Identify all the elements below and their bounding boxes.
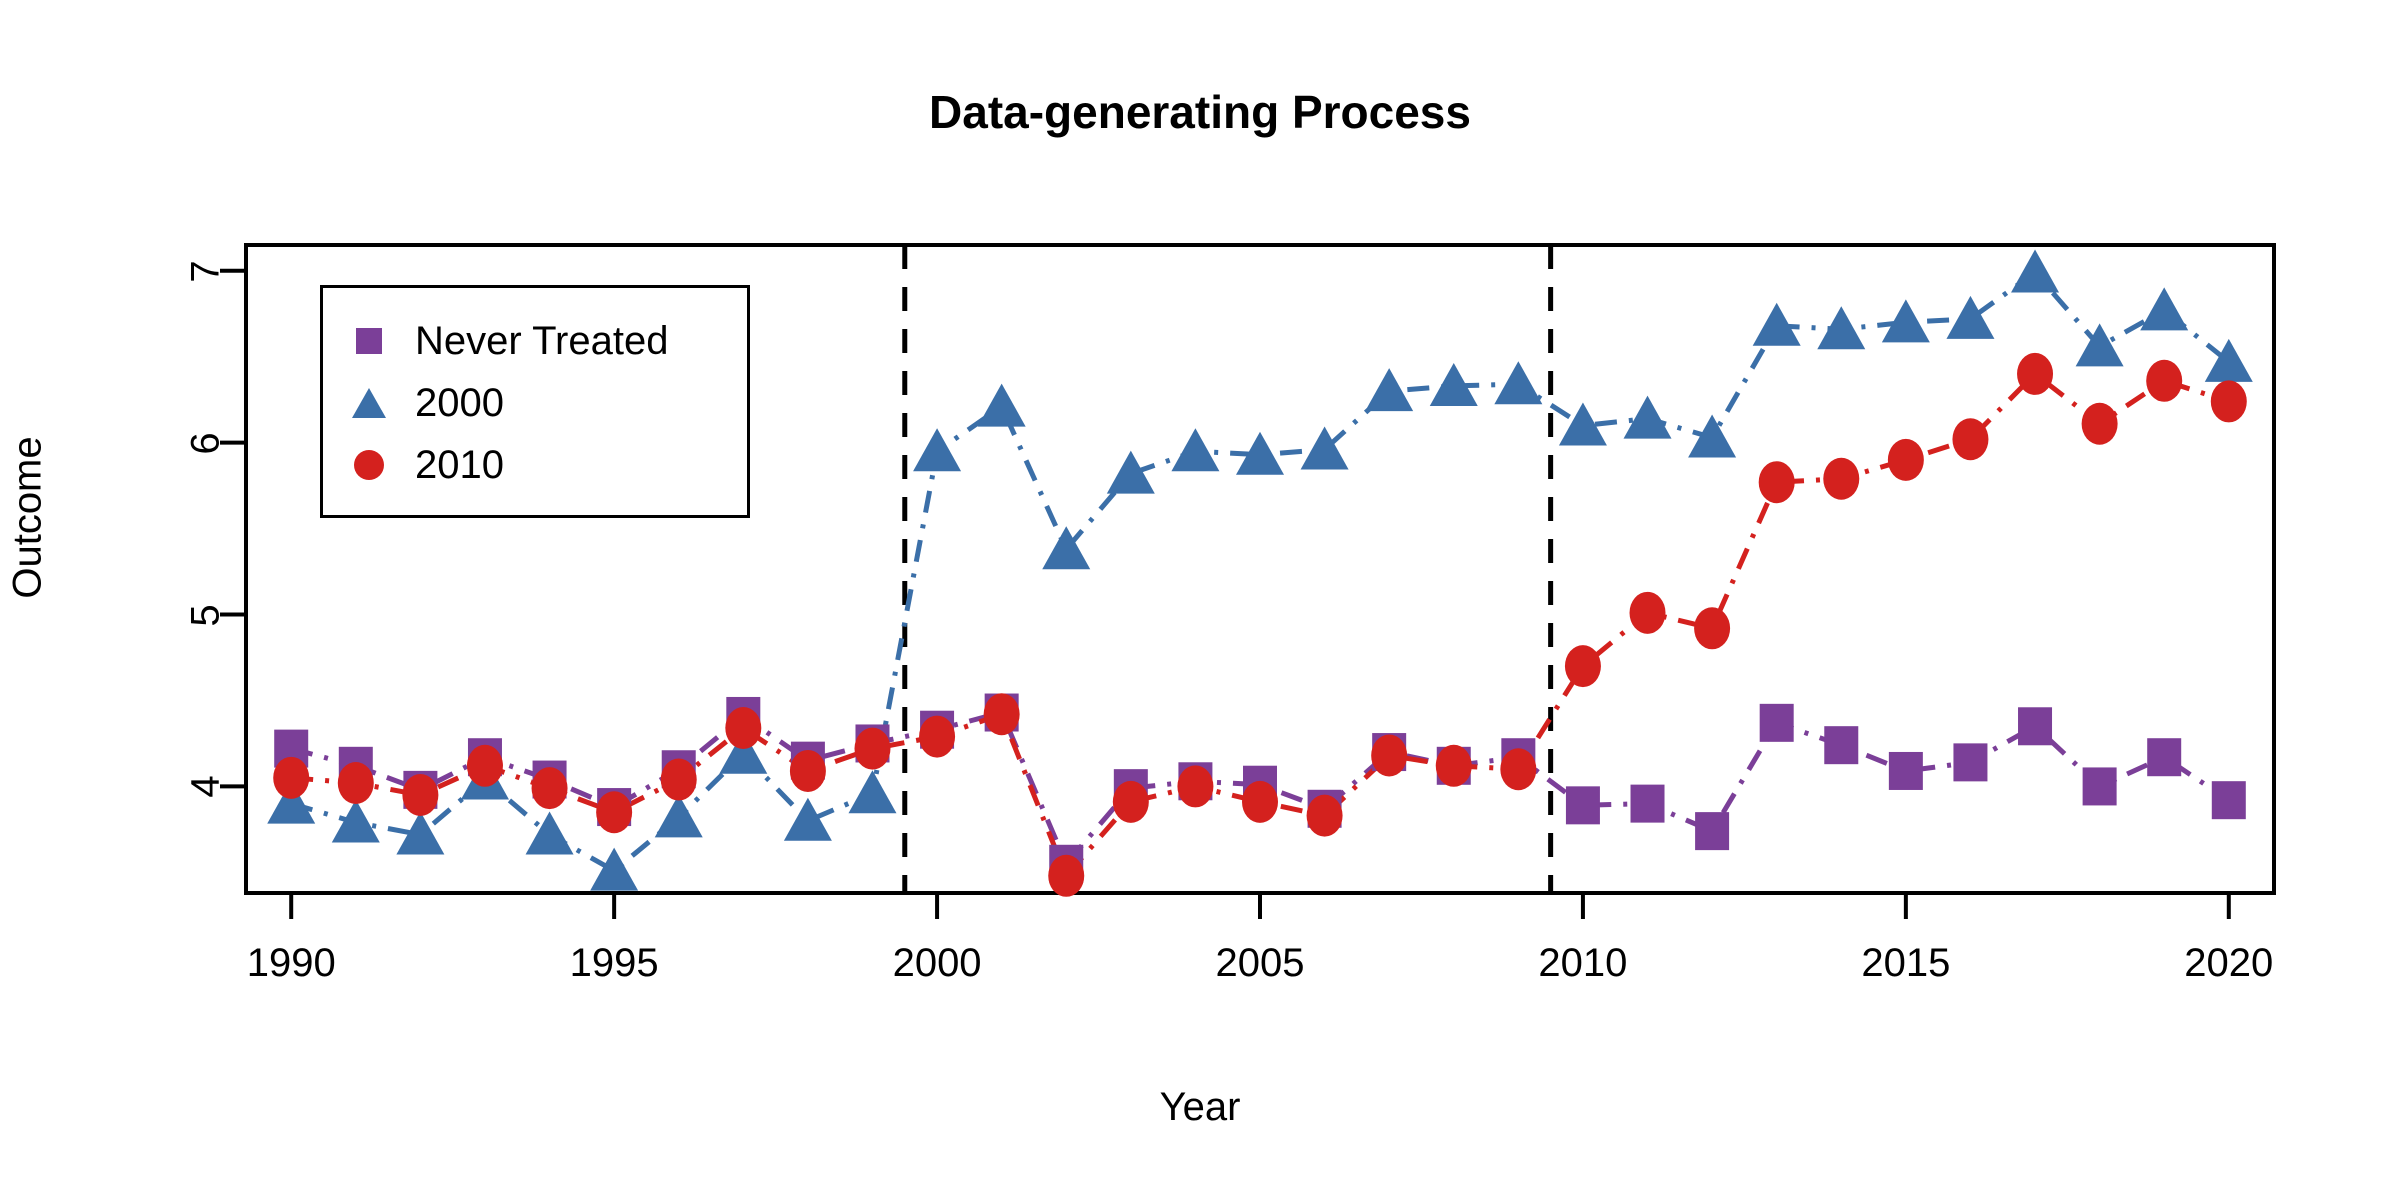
x-tick-label: 2005 [1216, 941, 1305, 986]
data-point [1630, 592, 1666, 634]
x-tick-label: 1995 [570, 941, 659, 986]
data-point [848, 770, 896, 813]
chart-canvas: Data-generating Process Outcome Year 199… [0, 0, 2400, 1200]
y-tick-label: 7 [184, 241, 229, 301]
data-point [332, 800, 380, 843]
data-point [790, 750, 826, 792]
data-point [338, 762, 374, 804]
data-point [2082, 403, 2118, 445]
legend-item-2000: 2000 [323, 372, 747, 434]
square-marker-icon [323, 328, 415, 354]
data-point [1565, 645, 1601, 687]
data-point [661, 759, 697, 801]
data-point [467, 745, 503, 787]
data-point [1113, 781, 1149, 823]
data-point [1494, 361, 1542, 404]
data-point [2211, 380, 2247, 422]
data-point [1694, 607, 1730, 649]
legend-item-never-treated: Never Treated [323, 310, 747, 372]
x-axis-label: Year [0, 1085, 2400, 1130]
data-point [2076, 323, 2124, 366]
data-point [1759, 461, 1795, 503]
data-point [854, 728, 890, 770]
data-point [2146, 360, 2182, 402]
data-point [1824, 726, 1858, 764]
data-point [1371, 734, 1407, 776]
data-point [919, 716, 955, 758]
data-point [1307, 795, 1343, 837]
plot-area [0, 0, 2400, 1200]
data-point [1365, 368, 1413, 411]
data-point [913, 428, 961, 471]
y-tick-label: 6 [184, 413, 229, 473]
data-point [2083, 767, 2117, 805]
data-point [596, 791, 632, 833]
x-tick-label: 2020 [2184, 941, 2273, 986]
data-point [1500, 748, 1536, 790]
data-point [1952, 418, 1988, 460]
data-point [1171, 428, 1219, 471]
triangle-marker-icon [323, 388, 415, 418]
data-point [984, 693, 1020, 735]
data-point [402, 774, 438, 816]
y-axis-label: Outcome [6, 428, 51, 608]
data-point [1688, 415, 1736, 458]
data-point [2140, 287, 2188, 330]
data-point [725, 707, 761, 749]
y-tick-label: 4 [184, 757, 229, 817]
data-point [1048, 855, 1084, 897]
data-point [2011, 250, 2059, 293]
data-point [978, 384, 1026, 427]
data-point [1817, 306, 1865, 349]
legend-label: 2000 [415, 381, 504, 426]
data-point [1888, 439, 1924, 481]
data-point [1946, 296, 1994, 339]
data-point [1631, 785, 1665, 823]
data-point [1436, 745, 1472, 787]
data-point [1624, 396, 1672, 439]
data-point [1760, 704, 1794, 742]
y-tick-label: 5 [184, 585, 229, 645]
data-point [1889, 752, 1923, 790]
data-point [532, 767, 568, 809]
legend-item-2010: 2010 [323, 434, 747, 496]
x-tick-label: 2000 [893, 941, 982, 986]
data-point [1695, 812, 1729, 850]
data-point [1953, 743, 1987, 781]
data-point [1823, 458, 1859, 500]
x-tick-label: 2015 [1861, 941, 1950, 986]
data-point [1242, 781, 1278, 823]
data-point [2147, 738, 2181, 776]
data-point [2017, 353, 2053, 395]
chart-legend: Never Treated 2000 2010 [320, 285, 750, 518]
data-point [526, 812, 574, 855]
data-point [2018, 707, 2052, 745]
x-tick-label: 1990 [247, 941, 336, 986]
data-point [273, 757, 309, 799]
circle-marker-icon [323, 450, 415, 480]
data-point [2212, 781, 2246, 819]
data-point [1107, 451, 1155, 494]
legend-label: 2010 [415, 443, 504, 488]
data-point [1177, 765, 1213, 807]
x-tick-label: 2010 [1538, 941, 1627, 986]
legend-label: Never Treated [415, 319, 668, 364]
data-point [1882, 299, 1930, 342]
data-point [1566, 786, 1600, 824]
